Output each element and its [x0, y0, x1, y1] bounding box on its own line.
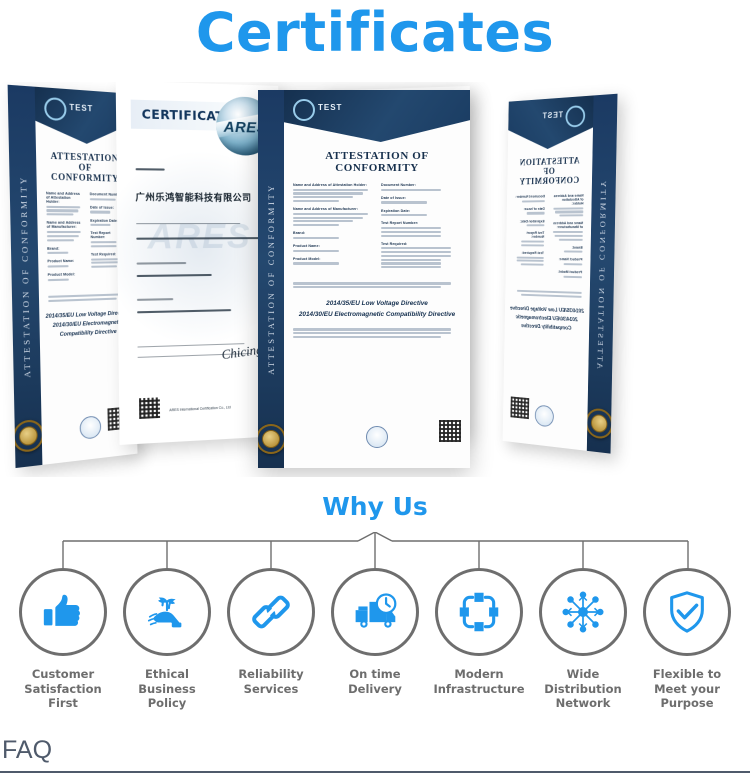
feature-circle	[539, 568, 627, 656]
field-value-line	[564, 251, 583, 253]
field-label: Test Report Number:	[514, 231, 545, 239]
gold-seal-icon	[12, 419, 44, 454]
field-value-line	[47, 239, 74, 241]
field-label: Document Number:	[381, 183, 461, 187]
paragraph-line	[521, 294, 582, 298]
testing-lab-logo-icon	[565, 105, 585, 128]
feature-modern-infrastructure[interactable]: Modern Infrastructure	[432, 568, 526, 728]
delivery-truck-clock-icon	[351, 588, 399, 636]
certificate-rail-text: ATTESTATION OF CONFORMITY	[596, 178, 609, 369]
page-title: Certificates	[0, 2, 750, 64]
certificate-fields-left: Name and Address of Attestation Holder: …	[46, 186, 84, 281]
field-label: Brand:	[293, 231, 373, 235]
certificate-paragraph	[48, 293, 126, 302]
certificate-brand: TEST	[69, 103, 93, 114]
certificates-gallery: ATTESTATION OF CONFORMITY TEST ATTESTATI…	[0, 82, 750, 477]
field-value-line	[517, 256, 544, 258]
field-value-line	[293, 192, 363, 194]
feature-label: Ethical Business Policy	[120, 667, 214, 711]
field-value-line	[381, 247, 451, 249]
certificate-directives: 2014/35/EU Low Voltage Directive 2014/30…	[510, 305, 585, 335]
feature-circle	[331, 568, 419, 656]
gold-seal-icon	[585, 407, 613, 440]
field-value-line	[527, 224, 545, 226]
field-value-line	[517, 260, 544, 263]
field-value-line	[564, 276, 583, 279]
field-value-line	[293, 189, 368, 191]
certificate-image-3[interactable]: ATTESTATION OF CONFORMITY TEST ATTESTATI…	[258, 90, 470, 468]
field-value-line	[381, 231, 441, 233]
certificate-fields: Name and Address of Attestation Holder: …	[284, 178, 470, 268]
field-label: Product Model:	[550, 270, 582, 275]
certificate-brand: TEST	[542, 110, 563, 120]
certificate-body: TEST ATTESTATION OF CONFORMITY Name and …	[503, 95, 594, 450]
field-value-line	[91, 245, 117, 247]
field-value-line	[553, 207, 583, 210]
certificate-fields-left: Name and Address of Attestation Holder: …	[550, 189, 583, 279]
qr-code-icon	[439, 420, 461, 442]
feature-circle	[19, 568, 107, 656]
certificate-rail-text: ATTESTATION OF CONFORMITY	[18, 175, 33, 378]
certificate-image-2[interactable]: ARES CERTIFICATE ARES 广州乐鸿智能科技有限公司 Chici…	[116, 82, 282, 445]
field-label: Name and Address of Manufacturer:	[293, 207, 373, 211]
qr-code-icon	[139, 397, 160, 419]
field-label: Product Model:	[48, 272, 84, 277]
field-label: Product Model:	[293, 257, 373, 261]
certificate-fields-right: Document Number: Date of Issue: Expirati…	[513, 190, 545, 278]
field-value-line	[90, 224, 110, 226]
certificates-page: Certificates ATTESTATION OF CONFORMITY T…	[0, 0, 750, 776]
certificate-heading: ATTESTATION OF CONFORMITY	[44, 150, 125, 183]
field-value-line	[47, 235, 79, 237]
field-value-line	[559, 238, 583, 240]
feature-flexible-to-meet-purpose[interactable]: Flexible to Meet your Purpose	[640, 568, 734, 728]
certificate-emblem-icon	[535, 404, 554, 427]
certificate-image-5[interactable]: ATTESTATION OF CONFORMITY TEST ATTESTATI…	[503, 94, 618, 454]
field-value-line	[381, 227, 441, 229]
field-label: Name and Address of Manufacturer:	[47, 221, 83, 229]
field-value-line	[381, 251, 451, 253]
certificate-fields: Name and Address of Attestation Holder: …	[506, 188, 592, 278]
paragraph-line	[48, 297, 117, 302]
field-label: Test Report Number:	[381, 221, 461, 225]
feature-wide-distribution-network[interactable]: Wide Distribution Network	[536, 568, 630, 728]
field-label: Test Required:	[513, 251, 543, 255]
field-value-line	[293, 224, 339, 226]
field-value-line	[293, 220, 353, 222]
feature-circle	[643, 568, 731, 656]
why-us-title: Why Us	[0, 492, 750, 521]
field-label: Name and Address of Attestation Holder:	[293, 183, 373, 187]
field-label: Date of Issue:	[514, 207, 545, 211]
field-value-line	[381, 259, 441, 261]
certificate-text-line	[135, 168, 165, 170]
field-label: Test Required:	[381, 242, 461, 246]
certificate-paragraph	[293, 282, 461, 288]
field-value-line	[522, 200, 545, 202]
certificate-directives: 2014/35/EU Low Voltage Directive 2014/30…	[290, 298, 464, 320]
certificate-paragraph	[293, 328, 461, 338]
paragraph-line	[293, 336, 441, 338]
field-value-line	[381, 235, 441, 237]
directive-line: 2014/30/EU Electromagnetic Compatibility…	[290, 309, 464, 320]
field-value-line	[293, 200, 339, 202]
certificate-body: TEST ATTESTATION OF CONFORMITY Name and …	[284, 90, 470, 468]
field-value-line	[555, 211, 583, 213]
certificate-company-name: 广州乐鸿智能科技有限公司	[135, 190, 251, 204]
field-value-line	[559, 214, 583, 216]
field-value-line	[47, 231, 81, 233]
feature-circle	[435, 568, 523, 656]
paragraph-line	[293, 286, 441, 288]
qr-code-icon	[510, 396, 529, 419]
certificate-paragraph	[513, 290, 582, 298]
field-value-line	[293, 196, 353, 198]
field-value-line	[47, 252, 68, 255]
field-label: Date of Issue:	[381, 196, 461, 200]
certificate-rail-text: ATTESTATION OF CONFORMITY	[266, 183, 276, 375]
field-value-line	[48, 265, 69, 268]
field-label: Document Number:	[514, 194, 545, 198]
field-label: Product Name:	[293, 244, 373, 248]
certificate-text-line	[136, 223, 241, 225]
feature-label: Modern Infrastructure	[432, 667, 526, 696]
faq-title: FAQ	[2, 736, 52, 765]
paragraph-line	[293, 328, 451, 330]
field-value-line	[381, 201, 427, 203]
field-value-line	[521, 263, 544, 266]
feature-label: Customer Satisfaction First	[16, 667, 110, 711]
testing-lab-logo-icon	[44, 97, 67, 121]
shield-check-icon	[664, 589, 710, 635]
certificate-heading: ATTESTATION OF CONFORMITY	[292, 150, 462, 174]
feature-reliability-services[interactable]: Reliability Services	[224, 568, 318, 728]
certificate-heading: ATTESTATION OF CONFORMITY	[514, 155, 585, 186]
field-label: Brand:	[47, 246, 83, 250]
field-value-line	[91, 241, 117, 243]
directive-line: 2014/30/EU Electromagnetic Compatibility…	[46, 318, 130, 341]
field-label: Expiration Date:	[381, 209, 461, 213]
paragraph-line	[293, 332, 451, 334]
field-label: Product Name:	[47, 259, 83, 264]
feature-label: On time Delivery	[328, 667, 422, 696]
feature-customer-satisfaction[interactable]: Customer Satisfaction First	[16, 568, 110, 728]
field-value-line	[521, 244, 544, 246]
certificate-fields-right: Document Number: Date of Issue: Expirati…	[381, 178, 461, 268]
field-value-line	[293, 250, 339, 252]
directive-line: 2014/35/EU Low Voltage Directive	[290, 298, 464, 309]
gold-seal-icon	[258, 424, 286, 454]
field-value-line	[555, 235, 583, 237]
certificate-emblem-icon	[366, 426, 388, 448]
field-label: Expiration Date:	[514, 219, 545, 223]
field-value-line	[553, 231, 583, 233]
faq-divider	[0, 771, 750, 773]
field-value-line	[293, 262, 339, 264]
certificate-rail: ATTESTATION OF CONFORMITY	[258, 90, 284, 468]
field-value-line	[293, 217, 363, 219]
field-label: Brand:	[551, 245, 583, 249]
field-value-line	[91, 265, 117, 268]
field-label: Name and Address of Attestation Holder:	[552, 194, 584, 206]
feature-label: Flexible to Meet your Purpose	[640, 667, 734, 711]
certificate-emblem-icon	[80, 415, 102, 440]
hand-plant-icon	[144, 589, 190, 635]
feature-circle	[123, 568, 211, 656]
field-value-line	[564, 263, 583, 265]
directive-line: 2014/30/EU Electromagnetic Compatibility…	[510, 313, 584, 334]
network-hub-icon	[560, 589, 606, 635]
field-value-line	[381, 266, 441, 268]
field-label: Name and Address of Attestation Holder:	[46, 191, 82, 204]
chain-link-icon	[248, 589, 294, 635]
why-us-features: Customer Satisfaction First Ethical Busi…	[0, 568, 750, 728]
paragraph-line	[293, 282, 451, 284]
field-value-line	[527, 212, 545, 214]
field-value-line	[90, 211, 110, 213]
certificate-footer: ARES International Certification Co., Lt…	[169, 404, 259, 413]
feature-label: Reliability Services	[224, 667, 318, 696]
certificate-banner: TEST	[284, 90, 470, 142]
field-label: Name and Address of Manufacturer:	[551, 221, 583, 229]
field-value-line	[46, 205, 80, 208]
infrastructure-frame-icon	[457, 590, 501, 634]
feature-circle	[227, 568, 315, 656]
testing-lab-logo-icon	[293, 99, 315, 121]
field-value-line	[46, 213, 73, 216]
field-value-line	[521, 240, 544, 242]
certificate-fields-left: Name and Address of Attestation Holder: …	[293, 178, 373, 268]
certificate-banner: TEST	[508, 95, 594, 150]
field-value-line	[293, 213, 368, 215]
thumbs-up-icon	[40, 589, 86, 635]
certificate-brand: TEST	[318, 103, 342, 112]
feature-label: Wide Distribution Network	[536, 667, 630, 711]
field-value-line	[90, 198, 116, 201]
feature-ethical-business-policy[interactable]: Ethical Business Policy	[120, 568, 214, 728]
field-value-line	[381, 214, 427, 216]
certificate-directives: 2014/35/EU Low Voltage Directive 2014/30…	[45, 309, 129, 341]
field-label: Product Name:	[551, 258, 583, 262]
field-value-line	[381, 255, 451, 257]
field-value-line	[46, 209, 78, 212]
field-value-line	[381, 189, 441, 191]
field-value-line	[293, 237, 339, 239]
field-value-line	[48, 278, 69, 281]
feature-on-time-delivery[interactable]: On time Delivery	[328, 568, 422, 728]
field-value-line	[381, 262, 441, 264]
